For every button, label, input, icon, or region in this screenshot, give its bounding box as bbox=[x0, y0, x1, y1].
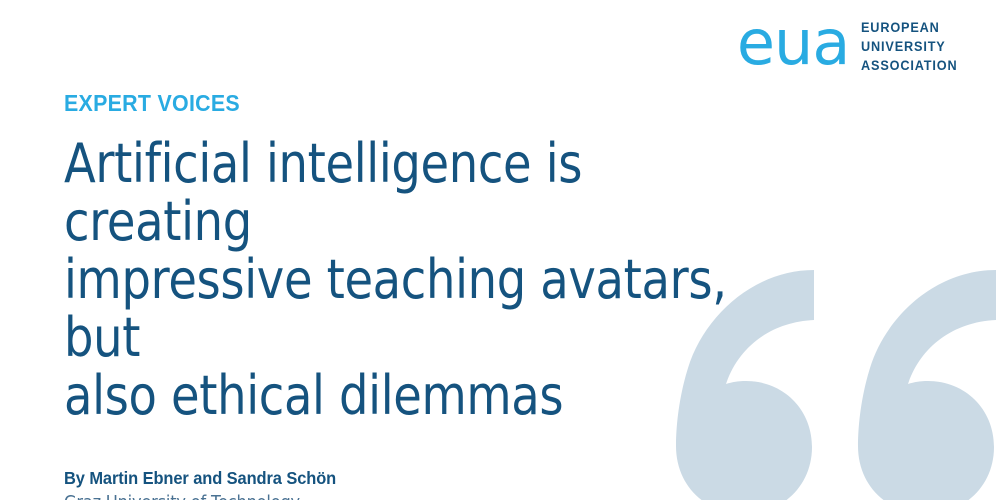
eua-logo-line-2: UNIVERSITY bbox=[861, 37, 957, 56]
eua-logo-text: EUROPEAN UNIVERSITY ASSOCIATION bbox=[861, 16, 957, 75]
expert-voices-banner: eua EUROPEAN UNIVERSITY ASSOCIATION EXPE… bbox=[0, 0, 1000, 500]
eua-logo: eua EUROPEAN UNIVERSITY ASSOCIATION bbox=[737, 16, 964, 75]
eua-wordmark: eua bbox=[737, 18, 861, 69]
article-content: EXPERT VOICES Artificial intelligence is… bbox=[64, 90, 864, 500]
eua-logo-line-1: EUROPEAN bbox=[861, 18, 957, 37]
page-title: Artificial intelligence is creating impr… bbox=[64, 135, 752, 425]
byline: By Martin Ebner and Sandra Schön Graz Un… bbox=[64, 467, 864, 500]
eua-logo-line-3: ASSOCIATION bbox=[861, 56, 957, 75]
byline-affiliation: Graz University of Technology bbox=[64, 491, 784, 500]
section-eyebrow: EXPERT VOICES bbox=[64, 90, 808, 117]
byline-authors: By Martin Ebner and Sandra Schön bbox=[64, 467, 816, 489]
